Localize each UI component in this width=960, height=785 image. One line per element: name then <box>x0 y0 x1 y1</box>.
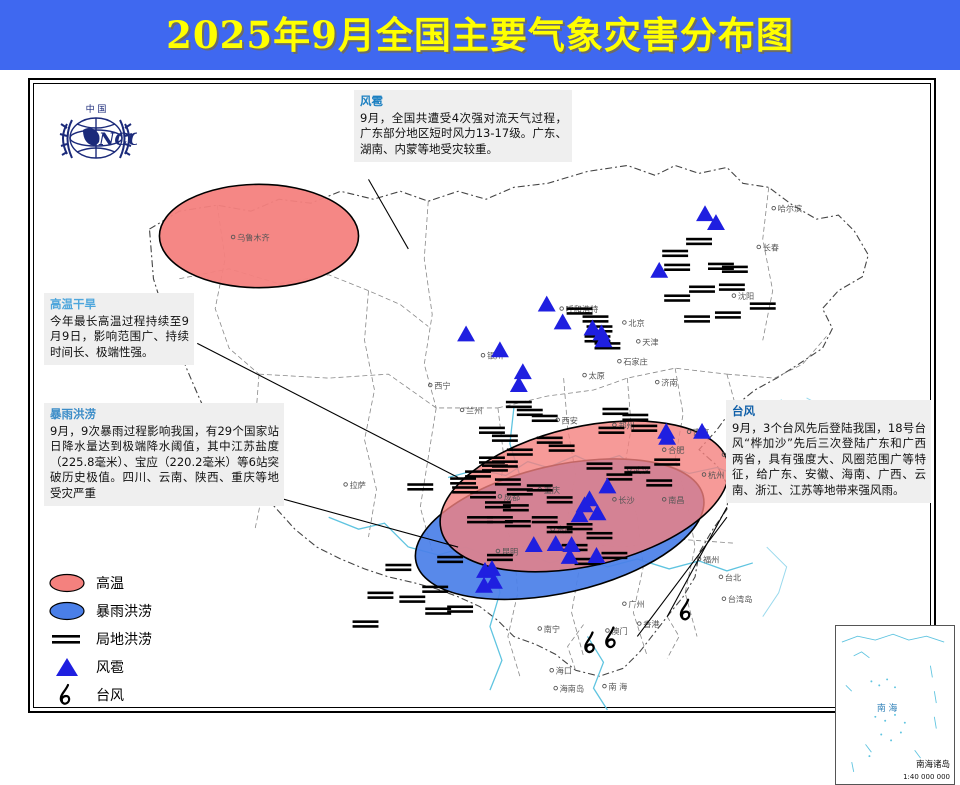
blue-ellipse-icon <box>46 598 88 624</box>
typhoon-marker <box>681 600 689 620</box>
svg-text:南宁: 南宁 <box>544 624 560 634</box>
svg-text:台湾岛: 台湾岛 <box>728 594 752 604</box>
svg-text:天津: 天津 <box>642 337 658 347</box>
info-box-fengbao: 风雹 9月，全国共遭受4次强对流天气过程，广东部分地区短时风力13-17级。广东… <box>354 90 572 162</box>
svg-text:太原: 太原 <box>589 371 605 381</box>
legend-label-hail: 风雹 <box>96 657 124 677</box>
ncc-logo: NCC 中 国 <box>55 98 137 170</box>
svg-text:南 海: 南 海 <box>608 682 627 692</box>
legend-item-local-flood: 局地洪涝 <box>46 626 196 654</box>
svg-text:沈阳: 沈阳 <box>738 291 754 301</box>
legend-label-local-flood: 局地洪涝 <box>96 629 152 649</box>
info-box-gaowen-heading: 高温干旱 <box>50 297 189 313</box>
info-box-baoyu-body: 9月，9次暴雨过程影响我国，有29个国家站日降水量达到极端降水阈值，其中江苏盐度… <box>50 424 279 502</box>
svg-text:南 海: 南 海 <box>877 702 898 714</box>
info-box-fengbao-body: 9月，全国共遭受4次强对流天气过程，广东部分地区短时风力13-17级。广东、湖南… <box>360 111 567 158</box>
inset-title: 南海诸岛 <box>916 758 950 770</box>
ncc-logo-top-text: 中 国 <box>86 103 107 115</box>
city-label: 台湾岛 <box>722 594 752 604</box>
city-label: 台北 <box>719 572 741 582</box>
legend-label-flood: 暴雨洪涝 <box>96 601 152 621</box>
ncc-logo-text: NCC <box>98 130 137 150</box>
info-box-fengbao-heading: 风雹 <box>360 94 567 110</box>
legend-label-high-temp: 高温 <box>96 573 124 593</box>
svg-text:兰州: 兰州 <box>466 405 482 415</box>
svg-text:杭州: 杭州 <box>708 470 724 480</box>
legend-label-typhoon: 台风 <box>96 685 124 705</box>
city-label: 海南岛 <box>554 684 584 694</box>
svg-text:海南岛: 海南岛 <box>560 684 584 694</box>
svg-text:香港: 香港 <box>643 619 659 629</box>
south-china-sea-inset: 南 海 南海诸岛 1:40 000 000 <box>835 625 955 785</box>
svg-text:合肥: 合肥 <box>668 445 684 455</box>
legend-item-flood: 暴雨洪涝 <box>46 598 196 626</box>
svg-text:南昌: 南昌 <box>668 495 684 505</box>
legend-item-hail: 风雹 <box>46 654 196 682</box>
svg-text:西安: 西安 <box>562 415 578 425</box>
red-ellipse-icon <box>46 570 88 596</box>
info-box-baoyu: 暴雨洪涝 9月，9次暴雨过程影响我国，有29个国家站日降水量达到极端降水阈值，其… <box>44 403 284 506</box>
blue-triangle-icon <box>46 654 88 680</box>
city-label: 海口 <box>550 666 572 676</box>
local-flood-marker <box>399 596 425 603</box>
svg-text:广州: 广州 <box>628 599 644 609</box>
info-box-gaowen-body: 今年最长高温过程持续至9月9日，影响范围广、持续时间长、极端性强。 <box>50 314 189 361</box>
info-box-taifeng-heading: 台风 <box>732 404 926 420</box>
svg-text:西宁: 西宁 <box>434 381 450 391</box>
page-title: 2025年9月全国主要气象灾害分布图 <box>0 6 960 64</box>
svg-text:长沙: 长沙 <box>618 495 634 505</box>
svg-text:哈尔滨: 哈尔滨 <box>778 204 802 214</box>
legend-item-typhoon: 台风 <box>46 682 196 710</box>
city-label: 乌鲁木齐 <box>231 232 269 242</box>
inset-scale: 1:40 000 000 <box>903 773 950 781</box>
svg-text:拉萨: 拉萨 <box>350 480 366 490</box>
city-label: 南 海 <box>603 682 628 692</box>
info-box-taifeng-body: 9月，3个台风先后登陆我国，18号台风“桦加沙”先后三次登陆广东和广西两省，具有… <box>732 421 926 499</box>
svg-text:石家庄: 石家庄 <box>623 357 647 367</box>
typhoon-glyph-icon <box>46 682 88 708</box>
map-legend: 高温 暴雨洪涝 局地洪涝 风雹 台风 <box>46 570 196 710</box>
local-flood-marker <box>353 620 379 627</box>
info-box-taifeng: 台风 9月，3个台风先后登陆我国，18号台风“桦加沙”先后三次登陆广东和广西两省… <box>726 400 931 503</box>
svg-text:乌鲁木齐: 乌鲁木齐 <box>237 232 270 242</box>
svg-text:台北: 台北 <box>725 572 741 582</box>
local-flood-marker <box>368 592 394 599</box>
title-banner: 2025年9月全国主要气象灾害分布图 <box>0 0 960 70</box>
info-box-gaowen: 高温干旱 今年最长高温过程持续至9月9日，影响范围广、持续时间长、极端性强。 <box>44 293 194 365</box>
legend-item-high-temp: 高温 <box>46 570 196 598</box>
svg-text:海口: 海口 <box>556 666 572 676</box>
svg-text:济南: 济南 <box>661 378 677 388</box>
svg-text:福州: 福州 <box>703 554 719 564</box>
svg-text:长春: 长春 <box>763 242 779 252</box>
double-line-icon <box>46 626 88 652</box>
screenshot-root: 2025年9月全国主要气象灾害分布图 <box>0 0 960 720</box>
svg-text:北京: 北京 <box>628 318 644 328</box>
info-box-baoyu-heading: 暴雨洪涝 <box>50 407 279 423</box>
